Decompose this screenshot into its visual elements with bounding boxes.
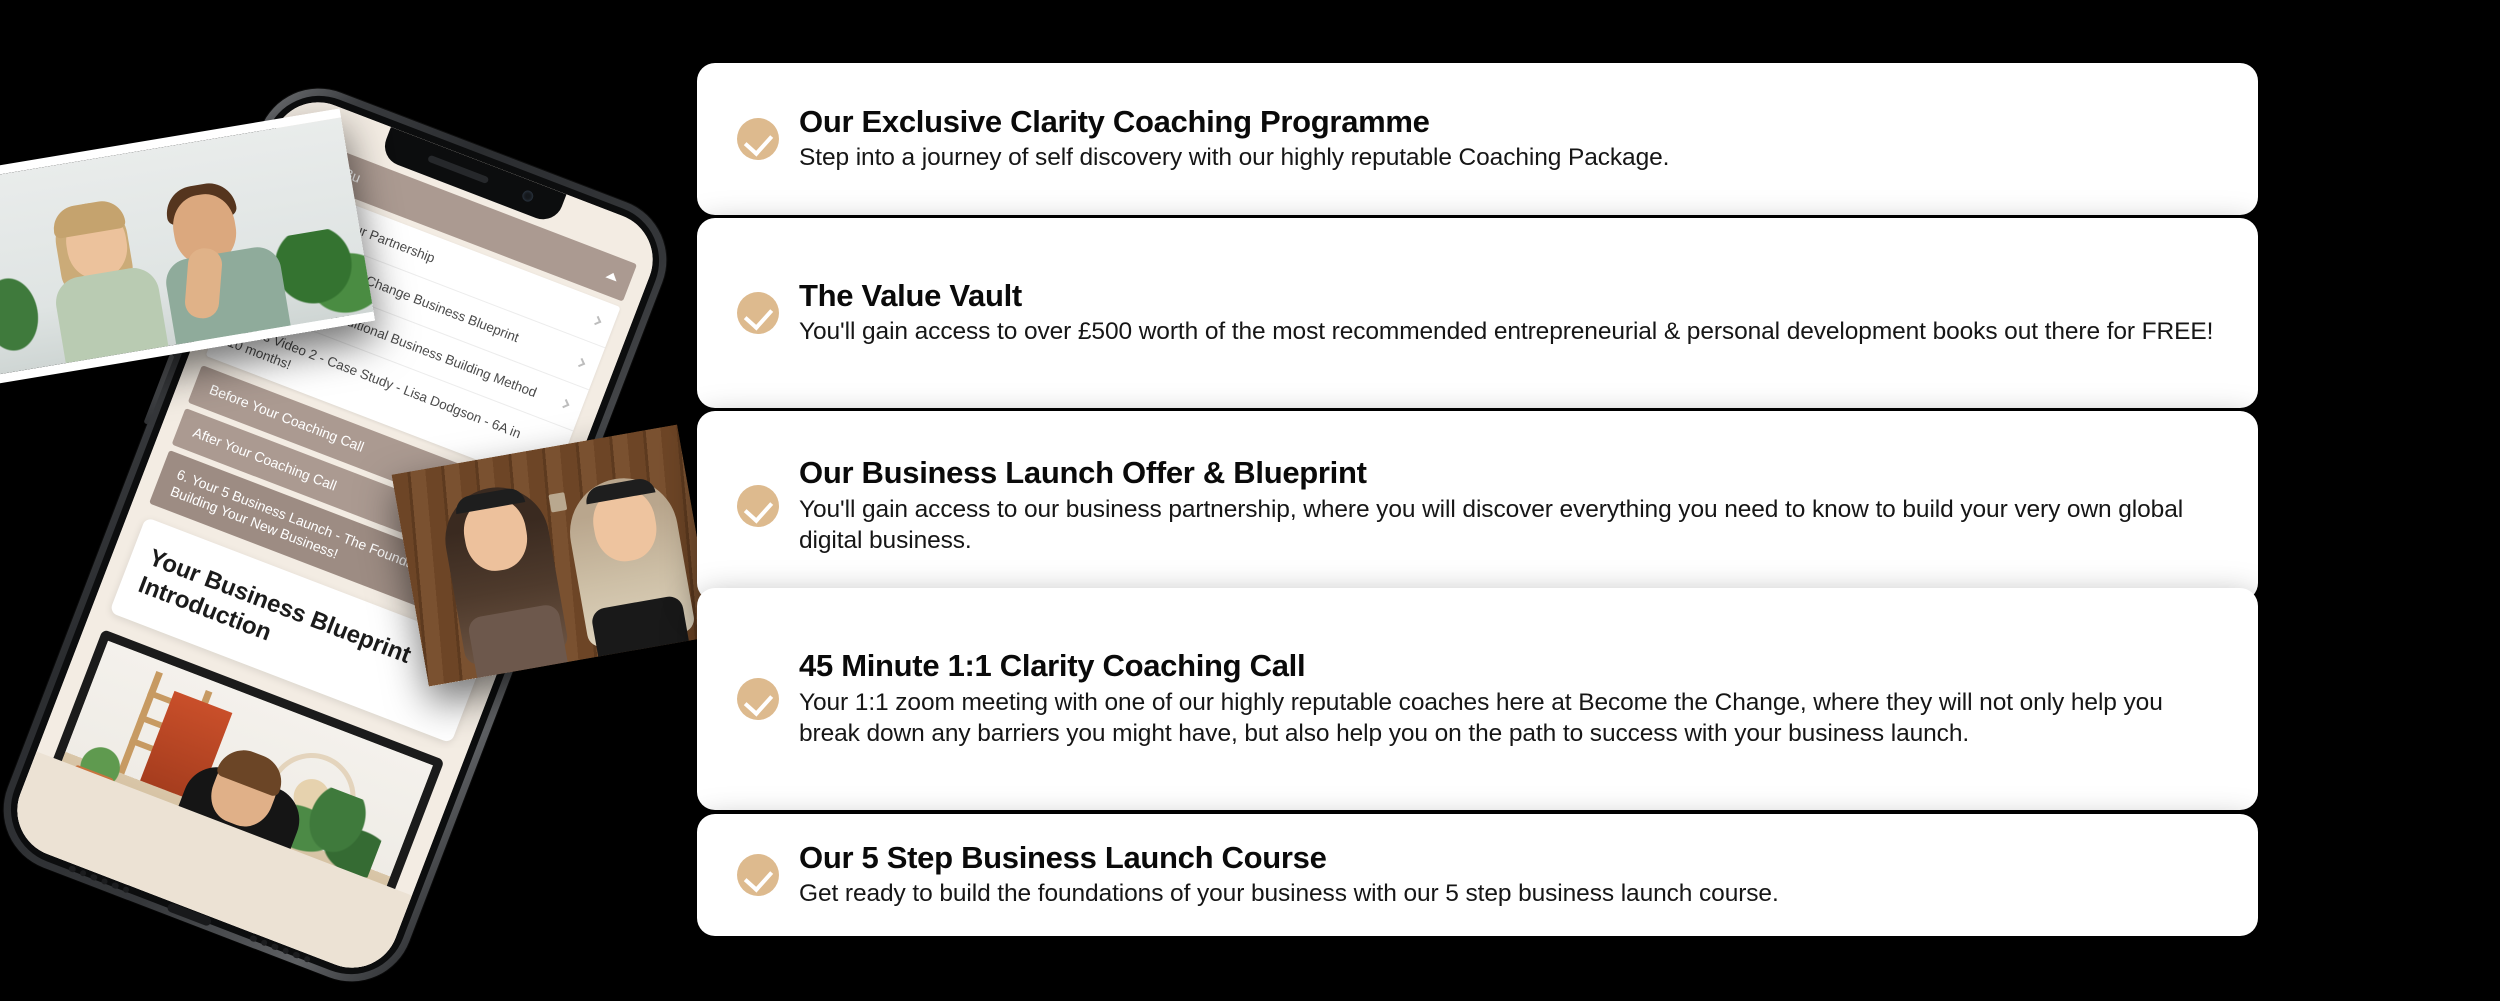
feature-card-description: Your 1:1 zoom meeting with one of our hi… — [799, 688, 2214, 750]
device-mockup-group: 3. Your Bu Introducing our Partnership Y… — [0, 0, 700, 1000]
feature-card[interactable]: 45 Minute 1:1 Clarity Coaching Call Your… — [697, 588, 2258, 810]
check-circle-icon — [737, 485, 779, 527]
feature-card-title: Our Exclusive Clarity Coaching Programme — [799, 104, 2214, 141]
feature-card-title: The Value Vault — [799, 278, 2214, 315]
check-circle-icon — [737, 292, 779, 334]
plant-prop — [0, 273, 48, 378]
feature-card-text: Our Exclusive Clarity Coaching Programme… — [799, 104, 2214, 174]
man-body — [163, 244, 291, 345]
check-circle-icon — [737, 118, 779, 160]
check-circle-icon — [737, 854, 779, 896]
feature-card[interactable]: The Value Vault You'll gain access to ov… — [697, 218, 2258, 408]
feature-card-text: 45 Minute 1:1 Clarity Coaching Call Your… — [799, 648, 2214, 749]
wall-switch-prop — [548, 492, 567, 513]
man-arm — [184, 247, 223, 319]
feature-card-description: You'll gain access to over £500 worth of… — [799, 317, 2214, 348]
feature-card[interactable]: Our Exclusive Clarity Coaching Programme… — [697, 63, 2258, 215]
promo-banner: 3. Your Bu Introducing our Partnership Y… — [0, 0, 2500, 1000]
check-circle-icon — [737, 678, 779, 720]
chevron-right-icon — [560, 399, 569, 408]
feature-card-title: Our Business Launch Offer & Blueprint — [799, 455, 2214, 492]
feature-card[interactable]: Our 5 Step Business Launch Course Get re… — [697, 814, 2258, 936]
woman-body — [52, 264, 168, 363]
feature-card[interactable]: Our Business Launch Offer & Blueprint Yo… — [697, 411, 2258, 601]
feature-card-text: Our 5 Step Business Launch Course Get re… — [799, 840, 2214, 910]
feature-card-list: Our Exclusive Clarity Coaching Programme… — [697, 0, 2258, 1000]
front-camera-icon — [521, 189, 535, 203]
chevron-right-icon — [576, 358, 585, 367]
chevron-up-icon — [605, 270, 619, 281]
feature-card-text: The Value Vault You'll gain access to ov… — [799, 278, 2214, 348]
feature-card-text: Our Business Launch Offer & Blueprint Yo… — [799, 455, 2214, 556]
feature-card-description: You'll gain access to our business partn… — [799, 495, 2214, 557]
feature-card-title: Our 5 Step Business Launch Course — [799, 840, 2214, 877]
chevron-right-icon — [592, 316, 601, 325]
feature-card-description: Step into a journey of self discovery wi… — [799, 143, 2214, 174]
feature-card-description: Get ready to build the foundations of yo… — [799, 879, 2214, 910]
feature-card-title: 45 Minute 1:1 Clarity Coaching Call — [799, 648, 2214, 685]
